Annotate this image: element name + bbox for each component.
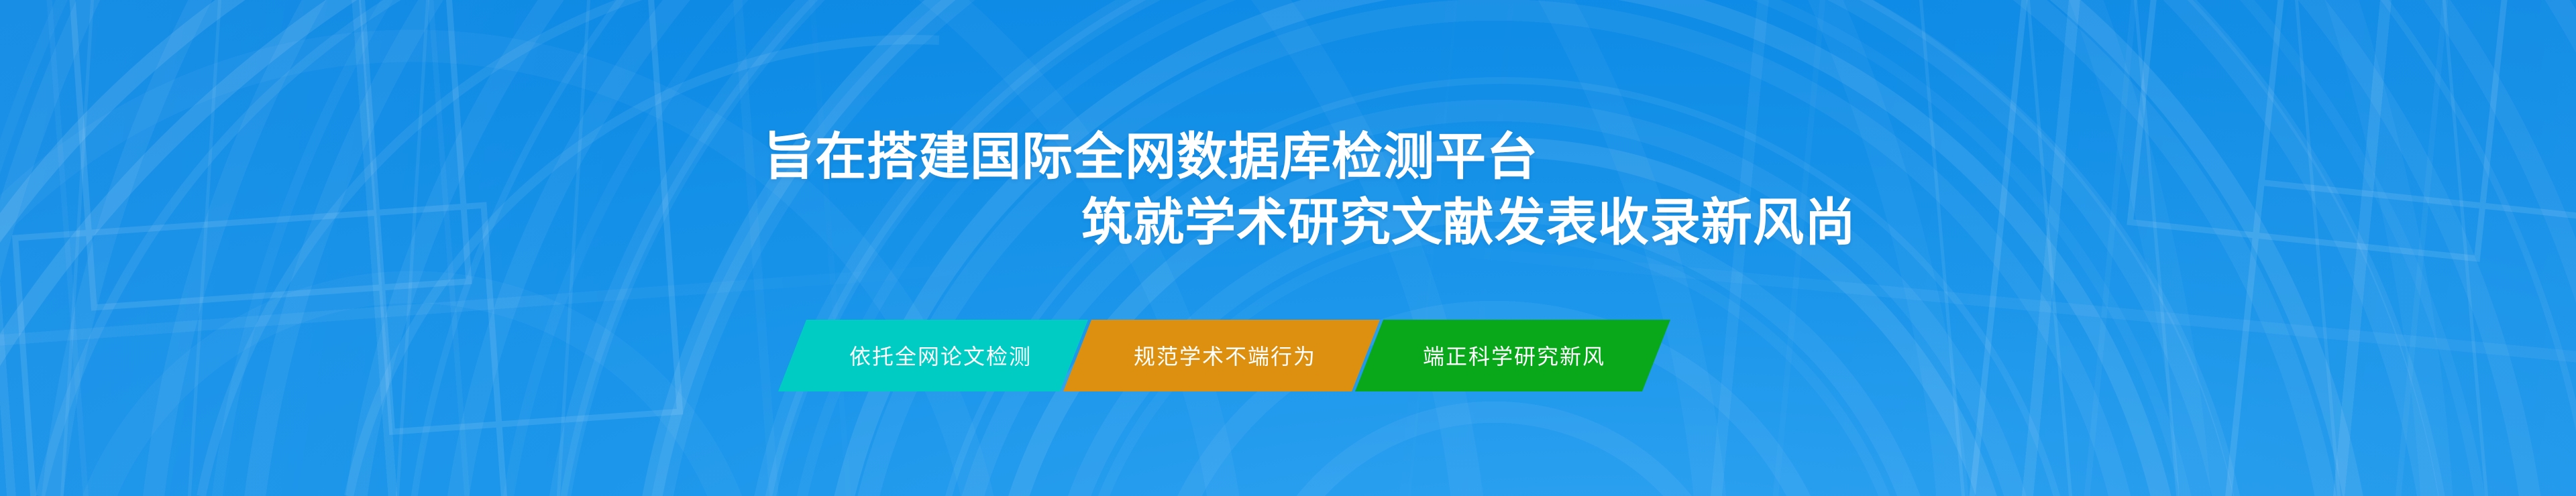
feature-tag-strip: 依托全网论文检测 规范学术不端行为 端正科学研究新风 (778, 320, 1646, 391)
feature-tag-label: 端正科学研究新风 (1400, 340, 1628, 371)
headline-block: 旨在搭建国际全网数据库检测平台 筑就学术研究文献发表收录新风尚 (0, 125, 2576, 256)
feature-tag-misconduct-regulation[interactable]: 规范学术不端行为 (1063, 320, 1380, 391)
headline-line-1: 旨在搭建国际全网数据库检测平台 (763, 125, 2576, 190)
feature-tag-paper-detection[interactable]: 依托全网论文检测 (778, 320, 1088, 391)
feature-tag-label: 规范学术不端行为 (1111, 340, 1339, 371)
feature-tag-research-ethics[interactable]: 端正科学研究新风 (1355, 320, 1670, 391)
headline-line-2: 筑就学术研究文献发表收录新风尚 (1081, 190, 2576, 256)
feature-tag-label: 依托全网论文检测 (826, 340, 1055, 371)
promo-banner: 旨在搭建国际全网数据库检测平台 筑就学术研究文献发表收录新风尚 依托全网论文检测… (0, 0, 2576, 496)
